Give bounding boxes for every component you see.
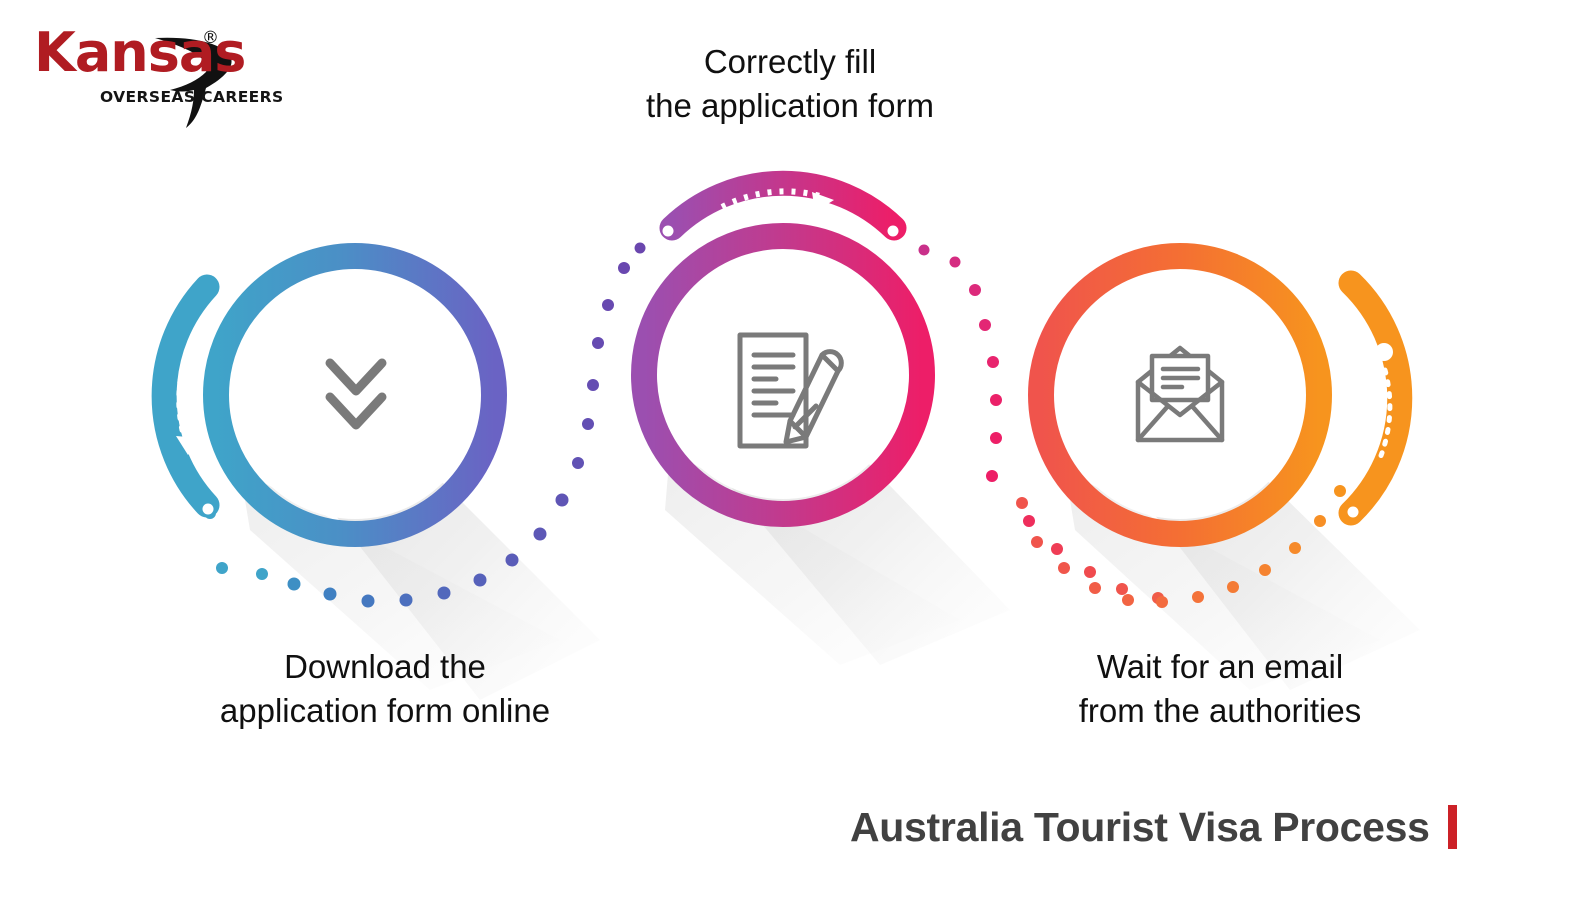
infographic-graphics bbox=[0, 0, 1580, 900]
brand-logo[interactable]: Kansas ® OVERSEAS CAREERS bbox=[34, 22, 284, 122]
step-2-disc bbox=[659, 251, 907, 499]
page-title: Australia Tourist Visa Process bbox=[850, 798, 1457, 856]
step-2-caption: Correctly fill the application form bbox=[490, 40, 1090, 128]
registered-trademark-icon: ® bbox=[202, 30, 219, 47]
step-2-arc-right-hole bbox=[888, 226, 899, 237]
step-2-arc-left-hole bbox=[663, 226, 674, 237]
logo-tagline: OVERSEAS CAREERS bbox=[100, 90, 284, 106]
step-1-caption: Download the application form online bbox=[85, 645, 685, 733]
step-1-arc-end-hole bbox=[203, 504, 214, 515]
step-3-arc-end-hole bbox=[1348, 507, 1359, 518]
step-3-arc bbox=[1348, 283, 1400, 518]
step-3-caption: Wait for an email from the authorities bbox=[920, 645, 1520, 733]
page-title-text: Australia Tourist Visa Process bbox=[850, 804, 1430, 851]
step-3-arc-top-hole bbox=[1375, 343, 1393, 361]
infographic-canvas: Kansas ® OVERSEAS CAREERS Download the a… bbox=[0, 0, 1580, 900]
title-accent-bar bbox=[1448, 805, 1457, 849]
